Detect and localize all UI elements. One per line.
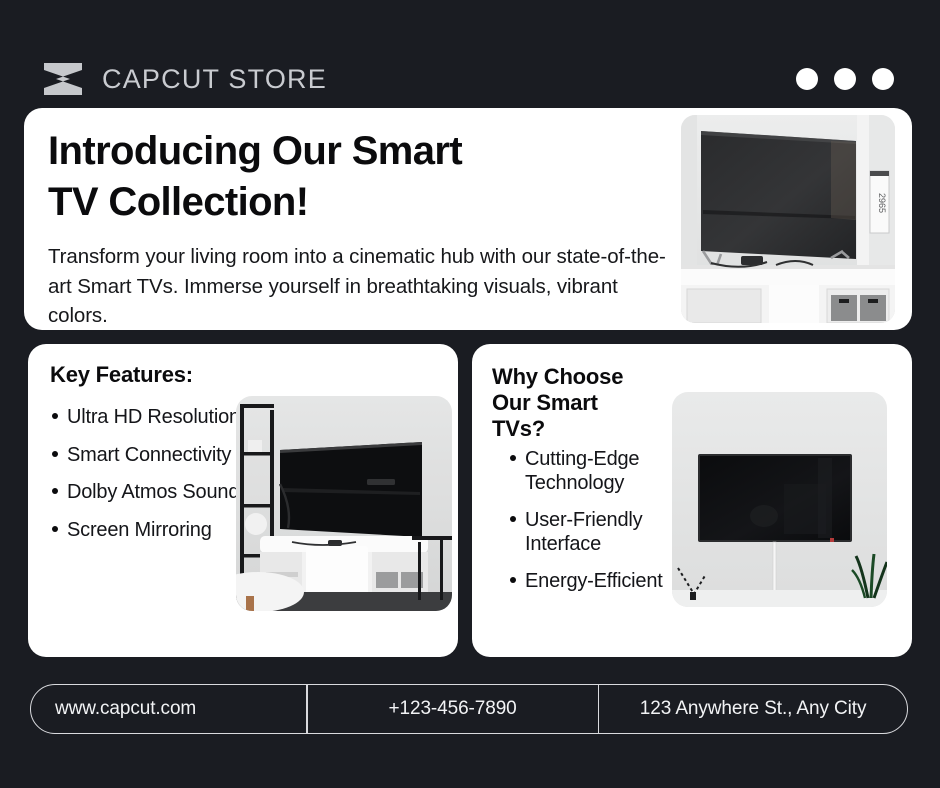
list-item: Dolby Atmos Sound	[50, 481, 240, 505]
poster-root: CAPCUT STORE Introducing Our Smart TV Co…	[0, 0, 940, 788]
why-choose-card: Why Choose Our Smart TVs? Cutting-Edge T…	[472, 344, 912, 657]
why-choose-heading-line2: Our Smart	[492, 390, 623, 416]
svg-text:2965: 2965	[877, 193, 887, 213]
why-choose-heading-line3: TVs?	[492, 416, 623, 442]
footer-phone[interactable]: +123-456-7890	[308, 685, 598, 733]
hero-title: Introducing Our Smart TV Collection!	[48, 126, 668, 228]
key-features-card: Key Features: Ultra HD Resolution Smart …	[28, 344, 458, 657]
minimize-dot[interactable]	[796, 68, 818, 90]
hero-description: Transform your living room into a cinema…	[48, 242, 668, 331]
hero-title-line1: Introducing Our Smart	[48, 126, 668, 177]
footer-address: 123 Anywhere St., Any City	[599, 685, 907, 733]
key-features-heading: Key Features:	[50, 362, 193, 388]
list-item: Smart Connectivity	[50, 444, 240, 468]
maximize-dot[interactable]	[834, 68, 856, 90]
brand: CAPCUT STORE	[40, 59, 327, 99]
hero-text-block: Introducing Our Smart TV Collection! Tra…	[48, 126, 668, 331]
list-item: Screen Mirroring	[50, 519, 240, 543]
hero-card: Introducing Our Smart TV Collection! Tra…	[24, 108, 912, 330]
key-features-tv-photo	[236, 396, 452, 611]
footer-bar: www.capcut.com +123-456-7890 123 Anywher…	[30, 684, 908, 734]
close-dot[interactable]	[872, 68, 894, 90]
hero-tv-photo: 2965	[681, 115, 895, 323]
hero-title-line2: TV Collection!	[48, 177, 668, 228]
why-choose-heading: Why Choose Our Smart TVs?	[492, 364, 623, 442]
list-item: Ultra HD Resolution	[50, 406, 240, 430]
why-choose-heading-line1: Why Choose	[492, 364, 623, 390]
brand-name: CAPCUT STORE	[102, 64, 327, 95]
footer-website[interactable]: www.capcut.com	[31, 685, 306, 733]
header-bar: CAPCUT STORE	[40, 54, 900, 104]
why-choose-tv-photo	[672, 392, 887, 607]
key-features-list: Ultra HD Resolution Smart Connectivity D…	[50, 406, 240, 542]
window-controls[interactable]	[796, 68, 900, 90]
capcut-logo-icon	[40, 59, 86, 99]
